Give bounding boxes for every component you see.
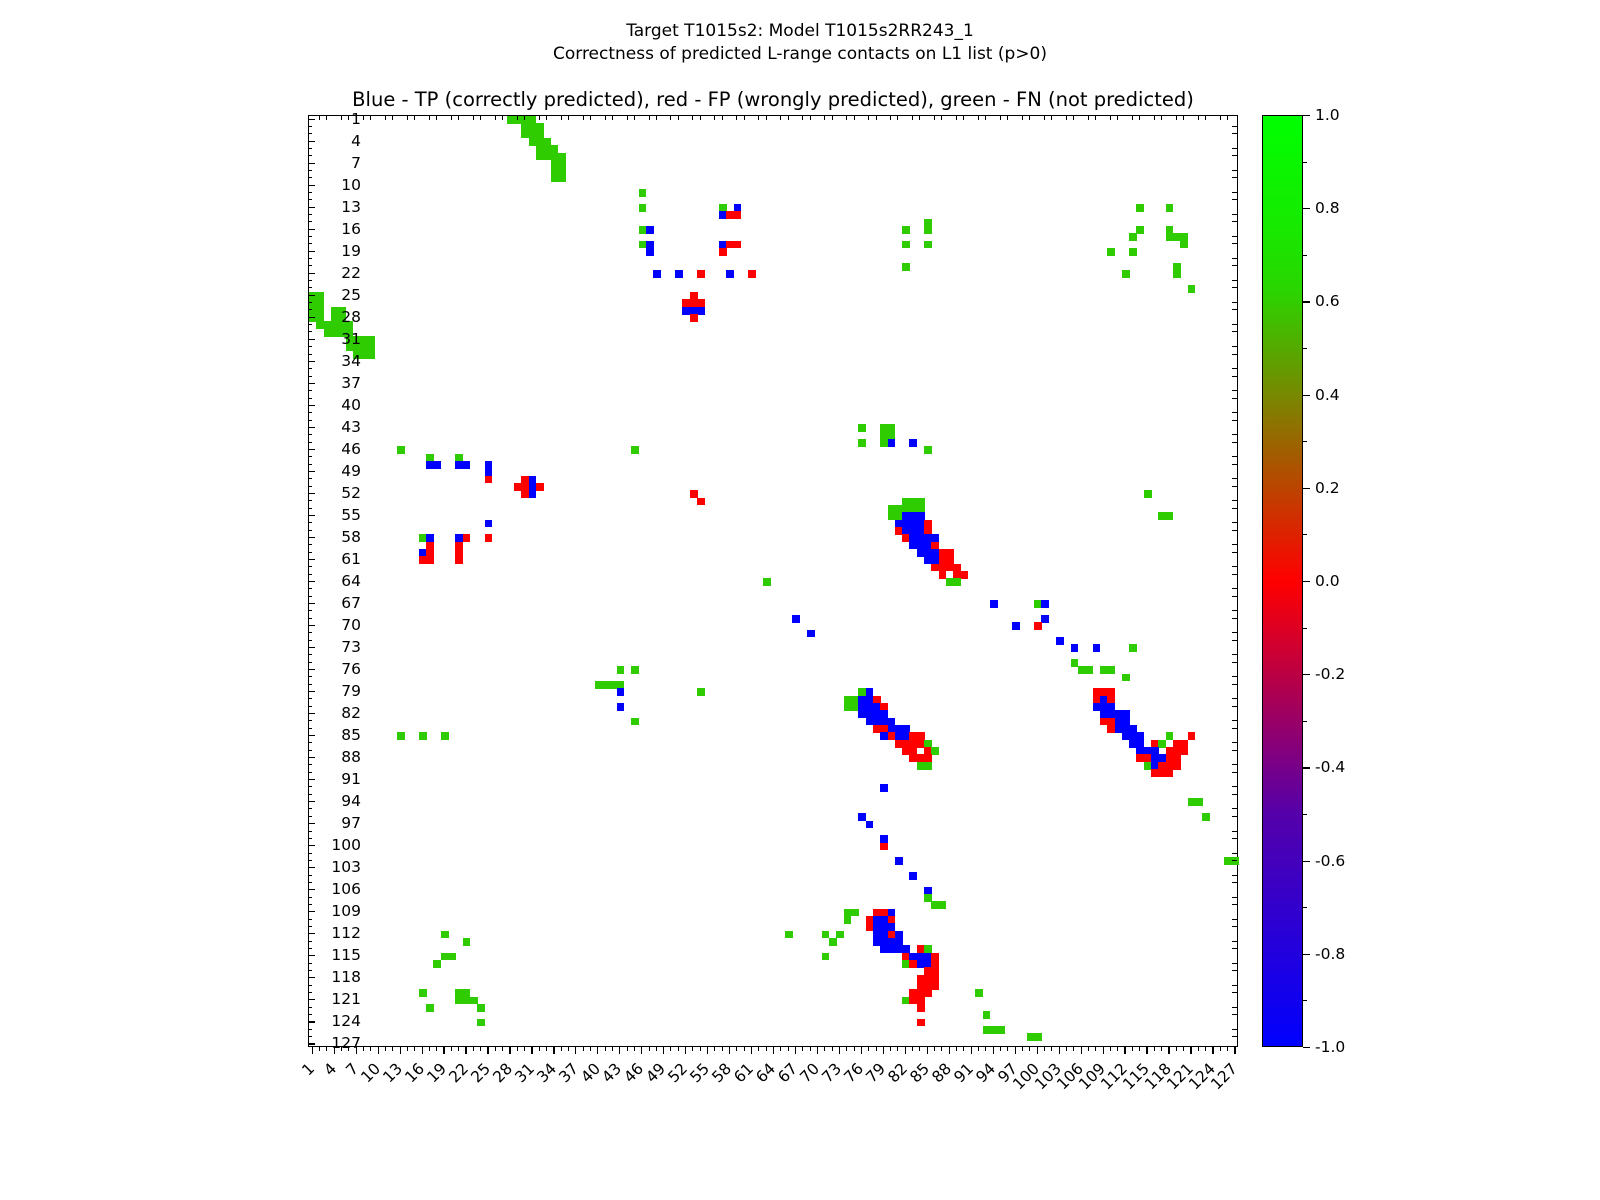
y-tick-label: 25 <box>341 286 361 304</box>
y-tick-minor <box>308 720 312 721</box>
x-tick-minor-top <box>912 116 913 120</box>
contact-cell-fn <box>983 1011 991 1019</box>
x-tick-minor <box>1117 1047 1118 1051</box>
contact-cell-fn <box>902 263 910 271</box>
y-tick-mark <box>308 977 315 978</box>
x-tick-minor <box>370 1047 371 1051</box>
x-tick-minor <box>407 1047 408 1051</box>
contact-cell-fn <box>1173 270 1181 278</box>
y-tick-mark <box>308 845 315 846</box>
contact-cell-fn <box>1195 798 1203 806</box>
y-tick-minor-right <box>1232 970 1237 971</box>
y-tick-minor-right <box>1232 552 1237 553</box>
y-tick-mark <box>308 317 315 318</box>
contact-cell-fp <box>734 241 742 249</box>
y-tick-minor-right <box>1232 500 1237 501</box>
x-tick-mark <box>422 1047 423 1054</box>
y-tick-minor <box>308 508 312 509</box>
y-tick-label: 52 <box>341 484 361 502</box>
y-tick-mark <box>308 559 315 560</box>
x-tick-minor-top <box>1029 116 1030 120</box>
y-tick-minor <box>308 610 312 611</box>
y-tick-minor <box>308 948 312 949</box>
contact-cell-fn <box>1107 666 1115 674</box>
x-tick-mark <box>773 1047 774 1054</box>
x-tick-minor-top <box>758 116 759 120</box>
y-tick-minor <box>308 500 312 501</box>
x-tick-mark <box>509 1047 510 1054</box>
contact-cell-fn <box>1136 204 1144 212</box>
x-tick-minor-top <box>319 116 320 120</box>
contact-cell-fp <box>917 1004 925 1012</box>
y-tick-label: 73 <box>341 638 361 656</box>
y-tick-minor <box>308 1029 312 1030</box>
y-tick-label: 16 <box>341 220 361 238</box>
x-tick-mark <box>378 1047 379 1054</box>
y-tick-minor-right <box>1232 420 1237 421</box>
y-tick-label: 22 <box>341 264 361 282</box>
x-tick-minor-top <box>590 116 591 120</box>
y-tick-minor-right <box>1232 926 1237 927</box>
x-tick-minor-top <box>1044 116 1045 120</box>
y-tick-minor-right <box>1232 221 1237 222</box>
y-tick-minor <box>308 662 312 663</box>
x-tick-minor <box>524 1047 525 1051</box>
x-tick-minor-top <box>722 116 723 120</box>
x-tick-minor-top <box>1095 116 1096 120</box>
x-tick-mark <box>1081 1047 1082 1054</box>
x-tick-minor <box>670 1047 671 1051</box>
contact-cell-tp <box>485 520 493 528</box>
x-tick-minor <box>758 1047 759 1051</box>
y-tick-label: 124 <box>331 1012 361 1030</box>
y-tick-minor <box>308 676 312 677</box>
x-tick-mark <box>971 1047 972 1054</box>
contact-cell-fn <box>639 204 647 212</box>
x-tick-minor <box>766 1047 767 1051</box>
x-tick-minor <box>810 1047 811 1051</box>
y-tick-mark <box>308 229 315 230</box>
y-tick-minor-right <box>1232 742 1237 743</box>
y-tick-label: 112 <box>331 924 361 942</box>
x-tick-minor-top <box>473 116 474 120</box>
y-tick-minor-right <box>1232 177 1237 178</box>
colorbar-tick-minor <box>1303 162 1307 163</box>
y-tick-minor-right <box>1232 1014 1237 1015</box>
y-tick-minor-right <box>1232 574 1237 575</box>
x-tick-minor <box>1051 1047 1052 1051</box>
x-tick-minor <box>473 1047 474 1051</box>
y-tick-label: 1 <box>351 110 361 128</box>
y-tick-mark <box>308 603 315 604</box>
x-tick-mark <box>707 1047 708 1054</box>
y-tick-minor <box>308 838 312 839</box>
y-tick-minor-right <box>1232 287 1237 288</box>
y-tick-mark <box>308 251 315 252</box>
contact-cell-fn <box>851 909 859 917</box>
y-tick-minor <box>308 324 312 325</box>
colorbar-tick-label: 0.2 <box>1315 479 1340 497</box>
y-tick-minor-right <box>1232 1029 1237 1030</box>
y-tick-mark <box>308 955 315 956</box>
y-tick-minor-right <box>1232 148 1237 149</box>
x-tick-minor <box>436 1047 437 1051</box>
y-tick-minor <box>308 588 312 589</box>
x-tick-minor <box>451 1047 452 1051</box>
figure-canvas: Target T1015s2: Model T1015s2RR243_1 Cor… <box>0 0 1600 1200</box>
x-tick-minor-top <box>846 116 847 120</box>
y-tick-minor-right <box>1232 354 1237 355</box>
x-tick-minor-top <box>1176 116 1177 120</box>
x-tick-minor-top <box>714 116 715 120</box>
y-tick-minor <box>308 853 312 854</box>
x-tick-minor <box>963 1047 964 1051</box>
y-tick-minor <box>308 192 312 193</box>
y-tick-mark <box>308 735 315 736</box>
x-tick-mark <box>1103 1047 1104 1054</box>
y-tick-label: 94 <box>341 792 361 810</box>
x-tick-mark <box>641 1047 642 1054</box>
contact-cell-fp <box>1166 769 1174 777</box>
x-tick-mark <box>356 1047 357 1054</box>
contact-cell-fn <box>1034 1033 1042 1041</box>
x-tick-mark <box>1168 1047 1169 1054</box>
y-tick-mark <box>308 911 315 912</box>
y-tick-minor <box>308 552 312 553</box>
x-tick-mark <box>465 1047 466 1054</box>
x-tick-mark <box>1190 1047 1191 1054</box>
x-tick-mark <box>685 1047 686 1054</box>
x-tick-mark <box>1037 1047 1038 1054</box>
x-tick-minor-top <box>700 116 701 120</box>
colorbar-tick-minor <box>1303 441 1307 442</box>
x-tick-minor-top <box>341 116 342 120</box>
y-tick-mark <box>308 273 315 274</box>
contact-cell-tp <box>792 615 800 623</box>
y-tick-minor-right <box>1232 772 1237 773</box>
y-tick-minor-right <box>1232 133 1237 134</box>
y-tick-minor <box>308 831 312 832</box>
x-tick-minor <box>692 1047 693 1051</box>
y-tick-minor-right <box>1232 948 1237 949</box>
y-tick-minor-right <box>1232 1036 1237 1037</box>
y-tick-minor-right <box>1232 992 1237 993</box>
x-tick-mark <box>487 1047 488 1054</box>
y-tick-label: 64 <box>341 572 361 590</box>
contact-cell-fn <box>822 953 830 961</box>
x-tick-minor <box>780 1047 781 1051</box>
y-tick-mark <box>308 207 315 208</box>
y-tick-minor <box>308 882 312 883</box>
x-tick-label: 4 <box>320 1060 340 1080</box>
y-tick-minor-right <box>1232 368 1237 369</box>
x-tick-minor <box>890 1047 891 1051</box>
x-tick-mark <box>597 1047 598 1054</box>
contact-cell-fp <box>690 314 698 322</box>
contact-cell-fn <box>939 901 947 909</box>
y-tick-label: 118 <box>331 968 361 986</box>
y-tick-minor-right <box>1232 155 1237 156</box>
y-tick-label: 79 <box>341 682 361 700</box>
y-tick-minor-right <box>1232 265 1237 266</box>
y-tick-minor <box>308 302 312 303</box>
y-tick-minor-right <box>1232 309 1237 310</box>
x-tick-minor <box>700 1047 701 1051</box>
y-tick-minor-right <box>1232 838 1237 839</box>
y-tick-minor <box>308 170 312 171</box>
colorbar-tick-label: -0.2 <box>1315 665 1345 683</box>
y-tick-minor-right <box>1232 1007 1237 1008</box>
contact-cell-fn <box>953 578 961 586</box>
y-tick-minor <box>308 596 312 597</box>
y-tick-minor-right <box>1232 376 1237 377</box>
y-tick-mark <box>308 141 315 142</box>
x-tick-minor <box>1095 1047 1096 1051</box>
y-tick-label: 4 <box>351 132 361 150</box>
contact-cell-fn <box>368 351 376 359</box>
y-tick-minor-right <box>1232 530 1237 531</box>
x-tick-mark <box>1146 1047 1147 1054</box>
contact-cell-fn <box>397 732 405 740</box>
contact-cell-fn <box>477 1019 485 1027</box>
y-tick-minor <box>308 478 312 479</box>
contact-cell-fn <box>858 424 866 432</box>
y-tick-label: 34 <box>341 352 361 370</box>
x-tick-minor <box>934 1047 935 1051</box>
y-tick-minor-right <box>1232 985 1237 986</box>
x-tick-minor-top <box>414 116 415 120</box>
y-tick-minor <box>308 376 312 377</box>
y-tick-mark <box>308 867 315 868</box>
contact-cell-fn <box>1180 241 1188 249</box>
x-tick-label: 1 <box>298 1060 318 1080</box>
x-tick-minor-top <box>436 116 437 120</box>
contact-cell-fn <box>631 446 639 454</box>
y-tick-mark <box>308 625 315 626</box>
contact-cell-fn <box>902 226 910 234</box>
x-tick-minor-top <box>1051 116 1052 120</box>
contact-cell-fn <box>558 175 566 183</box>
contact-map-plot[interactable] <box>308 115 1238 1047</box>
x-tick-minor-top <box>1073 116 1074 120</box>
y-tick-minor <box>308 786 312 787</box>
x-tick-minor <box>348 1047 349 1051</box>
x-tick-mark <box>1234 1047 1235 1054</box>
x-tick-minor-top <box>1088 116 1089 120</box>
x-tick-minor-top <box>363 116 364 120</box>
x-tick-minor <box>414 1047 415 1051</box>
y-tick-minor-right <box>1232 522 1237 523</box>
x-tick-mark <box>400 1047 401 1054</box>
colorbar-tick-mark <box>1303 674 1310 675</box>
contact-cell-fn <box>1232 857 1240 865</box>
y-tick-minor-right <box>1232 610 1237 611</box>
x-tick-mark <box>993 1047 994 1054</box>
x-tick-mark <box>1124 1047 1125 1054</box>
y-tick-label: 88 <box>341 748 361 766</box>
y-tick-minor <box>308 632 312 633</box>
contact-cell-fn <box>639 189 647 197</box>
colorbar-tick-mark <box>1303 767 1310 768</box>
x-tick-minor-top <box>407 116 408 120</box>
colorbar-tick-mark <box>1303 1047 1310 1048</box>
y-tick-label: 19 <box>341 242 361 260</box>
x-tick-mark <box>927 1047 928 1054</box>
y-tick-minor <box>308 214 312 215</box>
y-tick-mark <box>308 823 315 824</box>
x-tick-mark <box>861 1047 862 1054</box>
y-tick-minor-right <box>1232 963 1237 964</box>
y-tick-minor <box>308 566 312 567</box>
x-tick-minor-top <box>583 116 584 120</box>
y-tick-label: 103 <box>331 858 361 876</box>
contact-cell-tp <box>646 248 654 256</box>
colorbar-tick-minor <box>1303 1000 1307 1001</box>
y-tick-mark <box>308 471 315 472</box>
x-tick-minor-top <box>744 116 745 120</box>
y-tick-mark <box>308 933 315 934</box>
y-tick-minor <box>308 434 312 435</box>
y-tick-minor-right <box>1232 941 1237 942</box>
y-tick-minor-right <box>1232 640 1237 641</box>
y-tick-minor-right <box>1232 853 1237 854</box>
contact-cell-fn <box>836 931 844 939</box>
contact-cell-tp <box>1093 644 1101 652</box>
y-tick-minor-right <box>1232 243 1237 244</box>
x-tick-minor <box>319 1047 320 1051</box>
x-tick-mark <box>553 1047 554 1054</box>
x-tick-minor-top <box>956 116 957 120</box>
y-tick-minor <box>308 331 312 332</box>
y-tick-minor <box>308 684 312 685</box>
x-tick-mark <box>839 1047 840 1054</box>
contact-map-cells <box>309 116 1237 1046</box>
x-tick-minor <box>1044 1047 1045 1051</box>
x-tick-minor <box>868 1047 869 1051</box>
x-tick-minor-top <box>348 116 349 120</box>
x-tick-minor <box>714 1047 715 1051</box>
contact-cell-fn <box>924 226 932 234</box>
x-tick-minor <box>1029 1047 1030 1051</box>
contact-cell-tp <box>990 600 998 608</box>
y-tick-minor <box>308 618 312 619</box>
x-tick-minor-top <box>802 116 803 120</box>
contact-cell-tp <box>726 270 734 278</box>
colorbar-tick-label: 0.8 <box>1315 199 1340 217</box>
colorbar-tick-mark <box>1303 301 1310 302</box>
y-tick-minor-right <box>1232 786 1237 787</box>
y-tick-minor <box>308 280 312 281</box>
y-tick-minor <box>308 258 312 259</box>
x-tick-minor-top <box>1022 116 1023 120</box>
y-tick-label: 43 <box>341 418 361 436</box>
x-tick-minor <box>583 1047 584 1051</box>
y-tick-minor-right <box>1232 831 1237 832</box>
y-tick-minor <box>308 764 312 765</box>
colorbar-tick-label: -0.6 <box>1315 852 1345 870</box>
contact-cell-tp <box>1056 637 1064 645</box>
x-tick-minor-top <box>429 116 430 120</box>
x-tick-minor <box>1220 1047 1221 1051</box>
contact-cell-fp <box>931 982 939 990</box>
y-tick-label: 100 <box>331 836 361 854</box>
y-tick-minor-right <box>1232 596 1237 597</box>
contact-cell-fn <box>1188 285 1196 293</box>
x-tick-minor <box>1183 1047 1184 1051</box>
y-tick-minor <box>308 1014 312 1015</box>
y-tick-minor-right <box>1232 346 1237 347</box>
y-tick-minor <box>308 941 312 942</box>
x-tick-minor-top <box>326 116 327 120</box>
y-tick-minor <box>308 126 312 127</box>
y-tick-minor-right <box>1232 808 1237 809</box>
y-tick-minor <box>308 985 312 986</box>
y-tick-minor <box>308 346 312 347</box>
contact-cell-fp <box>1034 622 1042 630</box>
x-tick-minor <box>1110 1047 1111 1051</box>
y-tick-minor <box>308 199 312 200</box>
y-tick-minor <box>308 287 312 288</box>
contact-cell-tp <box>1071 644 1079 652</box>
x-tick-mark <box>1212 1047 1213 1054</box>
x-tick-minor <box>502 1047 503 1051</box>
x-tick-mark <box>663 1047 664 1054</box>
y-tick-minor-right <box>1232 412 1237 413</box>
colorbar[interactable] <box>1262 115 1303 1047</box>
y-tick-minor <box>308 486 312 487</box>
x-tick-minor-top <box>670 116 671 120</box>
y-tick-label: 109 <box>331 902 361 920</box>
x-tick-minor-top <box>517 116 518 120</box>
x-tick-minor <box>605 1047 606 1051</box>
y-tick-minor-right <box>1232 258 1237 259</box>
x-tick-mark <box>905 1047 906 1054</box>
y-tick-mark <box>308 999 315 1000</box>
y-tick-minor-right <box>1232 750 1237 751</box>
x-tick-minor-top <box>934 116 935 120</box>
x-tick-label: 7 <box>342 1060 362 1080</box>
y-tick-minor-right <box>1232 324 1237 325</box>
y-tick-minor-right <box>1232 728 1237 729</box>
y-tick-label: 58 <box>341 528 361 546</box>
x-tick-minor <box>678 1047 679 1051</box>
x-tick-minor <box>1154 1047 1155 1051</box>
x-tick-minor <box>1176 1047 1177 1051</box>
contact-cell-fn <box>822 931 830 939</box>
contact-cell-fn <box>924 446 932 454</box>
contact-cell-fn <box>829 938 837 946</box>
contact-cell-fn <box>1129 233 1137 241</box>
x-tick-minor <box>568 1047 569 1051</box>
y-tick-minor-right <box>1232 126 1237 127</box>
y-tick-minor <box>308 970 312 971</box>
x-tick-minor <box>985 1047 986 1051</box>
contact-cell-tp <box>1041 615 1049 623</box>
contact-cell-tp <box>895 857 903 865</box>
y-tick-mark <box>308 779 315 780</box>
y-tick-minor-right <box>1232 706 1237 707</box>
y-tick-minor-right <box>1232 236 1237 237</box>
y-tick-label: 85 <box>341 726 361 744</box>
x-tick-minor-top <box>1117 116 1118 120</box>
y-tick-label: 70 <box>341 616 361 634</box>
colorbar-tick-minor <box>1303 534 1307 535</box>
x-tick-minor <box>1073 1047 1074 1051</box>
contact-cell-fn <box>1136 226 1144 234</box>
contact-cell-fn <box>397 446 405 454</box>
x-tick-minor <box>1227 1047 1228 1051</box>
y-tick-label: 82 <box>341 704 361 722</box>
